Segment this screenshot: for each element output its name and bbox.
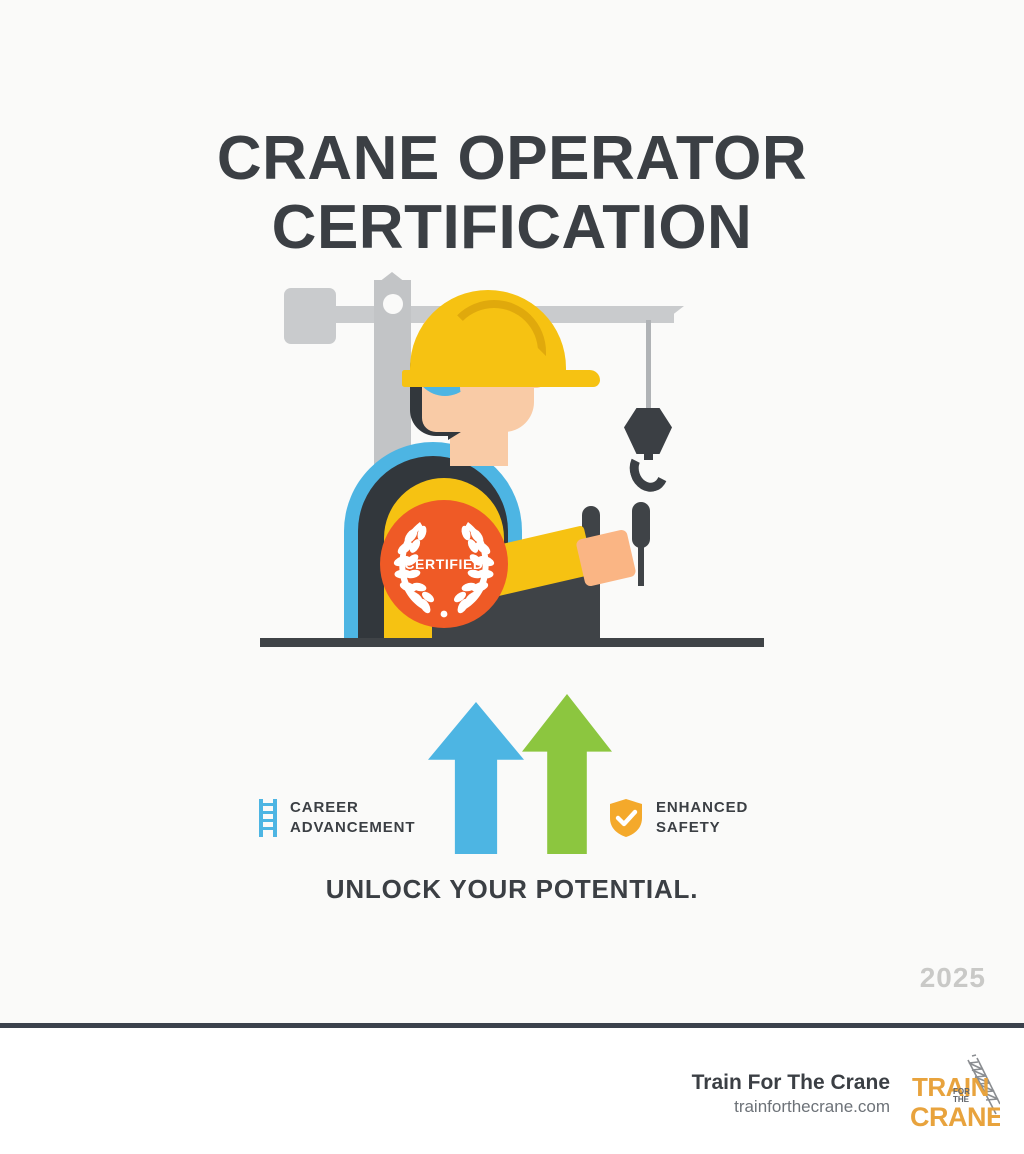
benefit-label-career-advancement: CAREER ADVANCEMENT — [290, 798, 415, 839]
logo-train-text: TRAIN — [912, 1072, 989, 1102]
enhanced-safety-arrow-icon — [522, 694, 612, 854]
year-label: 2025 — [920, 962, 986, 994]
career-advancement-arrow-icon — [428, 702, 524, 854]
brand-text-block: Train For The Crane trainforthecrane.com — [692, 1070, 890, 1118]
benefit-label-enhanced-safety: ENHANCED SAFETY — [656, 798, 748, 839]
crane-hook-icon — [624, 443, 674, 497]
benefit-career-advancement: CAREER ADVANCEMENT — [258, 798, 415, 839]
benefit-enhanced-safety: ENHANCED SAFETY — [608, 798, 748, 839]
poster-root: CRANE OPERATOR CERTIFICATION — [0, 0, 1024, 1154]
brand-logo[interactable]: TRAIN FOR THE CRANE — [908, 1052, 1000, 1136]
certified-badge: CERTIFIED — [380, 500, 508, 628]
growth-arrows — [0, 690, 1024, 850]
shield-check-icon — [608, 798, 644, 838]
ladder-icon — [258, 799, 278, 837]
footer: Train For The Crane trainforthecrane.com — [0, 1028, 1024, 1154]
crane-tower-window-icon — [383, 294, 403, 314]
logo-crane-text: CRANE — [910, 1102, 1000, 1132]
crane-cable-icon — [646, 320, 651, 414]
ground-line — [260, 638, 764, 647]
control-lever-stem-icon — [638, 534, 644, 586]
operator-hand-icon — [575, 529, 636, 587]
tagline: UNLOCK YOUR POTENTIAL. — [0, 874, 1024, 905]
crane-jib-tip-icon — [662, 306, 684, 323]
certified-badge-label: CERTIFIED — [404, 556, 483, 572]
title-line-2: CERTIFICATION — [0, 193, 1024, 262]
crane-operator-illustration: CERTIFIED — [262, 272, 762, 662]
page-title: CRANE OPERATOR CERTIFICATION — [0, 124, 1024, 263]
brand-url[interactable]: trainforthecrane.com — [692, 1096, 890, 1118]
poster-canvas: CRANE OPERATOR CERTIFICATION — [0, 0, 1024, 1023]
hard-hat-brim-icon — [402, 370, 600, 387]
brand-name: Train For The Crane — [692, 1070, 890, 1096]
title-line-1: CRANE OPERATOR — [0, 124, 1024, 193]
footer-branding: Train For The Crane trainforthecrane.com — [692, 1052, 1000, 1136]
